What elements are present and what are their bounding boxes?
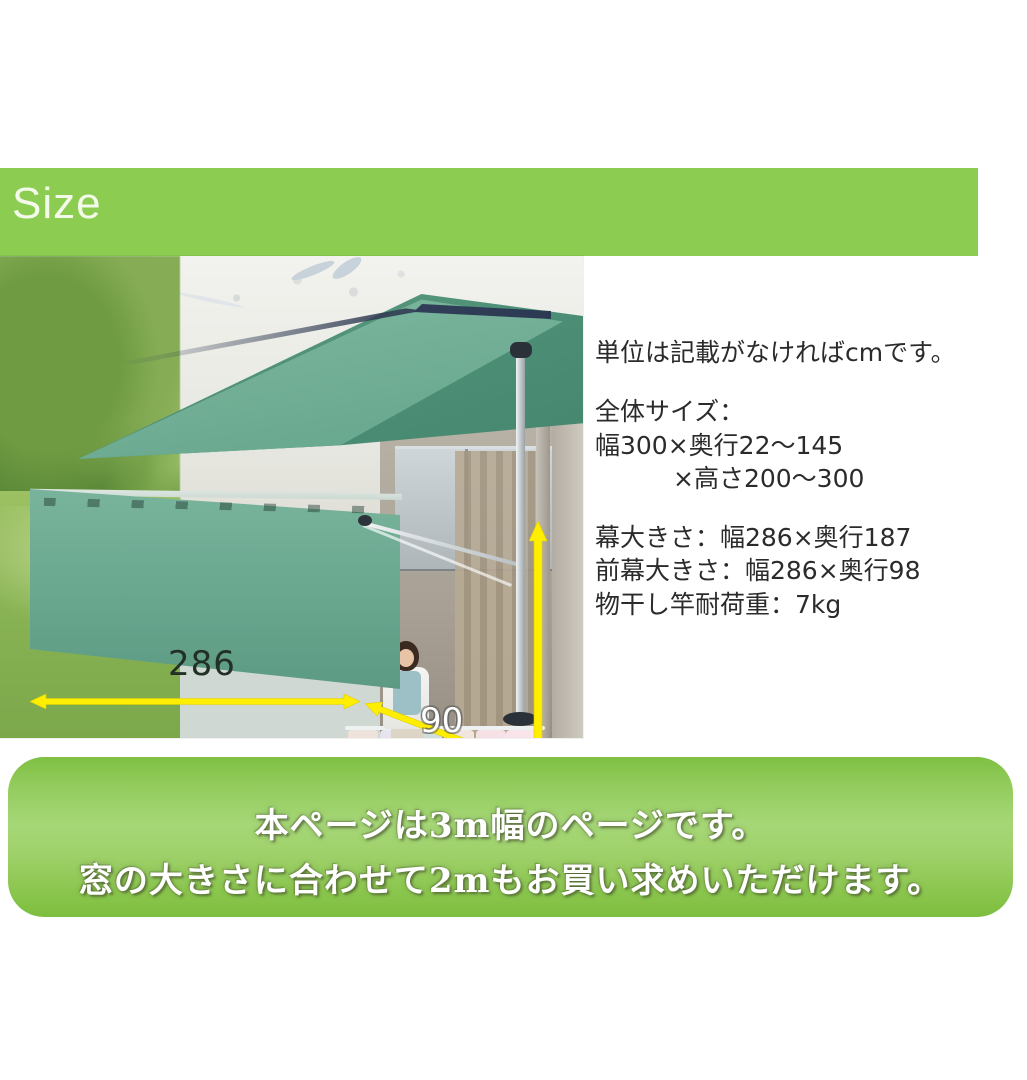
- size-section-header: Size: [0, 168, 978, 256]
- label-depth-90: 90: [420, 701, 463, 738]
- awning-product-photo: 286 90 ~130 (5段階伸縮) 200 ~300: [0, 256, 583, 738]
- label-depth-130: ~130: [399, 734, 492, 738]
- arm-hinge: [358, 515, 372, 526]
- unit-note: 単位は記載がなければcmです。: [595, 336, 1015, 369]
- photo-background: [0, 256, 583, 738]
- footer-line-1: 本ページは3m幅のページです。: [8, 798, 1013, 847]
- height-dimension-arrow: [529, 521, 547, 738]
- footer-line-2: 窓の大きさに合わせて2mもお買い求めいただけます。: [8, 853, 1013, 902]
- hanging-cloth-1: [348, 730, 378, 738]
- curtain-size: 幕大きさ：幅286×奥行187: [595, 521, 1015, 554]
- product-size-page: Size: [0, 0, 1027, 1080]
- footer-notice-banner: 本ページは3m幅のページです。 窓の大きさに合わせて2mもお買い求めいただけます…: [8, 757, 1013, 917]
- spacer-1: [595, 369, 1015, 395]
- overall-size-label: 全体サイズ：: [595, 395, 1015, 428]
- specification-text-block: 単位は記載がなければcmです。 全体サイズ： 幅300×奥行22〜145 ×高さ…: [595, 336, 1015, 621]
- width-dimension-arrow: [30, 694, 360, 709]
- support-pole: [516, 346, 525, 726]
- label-width-286: 286: [168, 644, 236, 684]
- tree-foliage: [0, 256, 180, 526]
- spacer-2: [595, 495, 1015, 521]
- pole-top-joint: [510, 342, 532, 358]
- page-title: Size: [12, 182, 102, 226]
- room-right-wall: [552, 406, 583, 738]
- overall-size-line1: 幅300×奥行22〜145: [595, 429, 1015, 462]
- overall-size-line2: ×高さ200〜300: [595, 462, 1015, 495]
- front-curtain-size: 前幕大きさ：幅286×奥行98: [595, 554, 1015, 587]
- person-face: [398, 649, 414, 667]
- pole-load-capacity: 物干し竿耐荷重：7kg: [595, 588, 1015, 621]
